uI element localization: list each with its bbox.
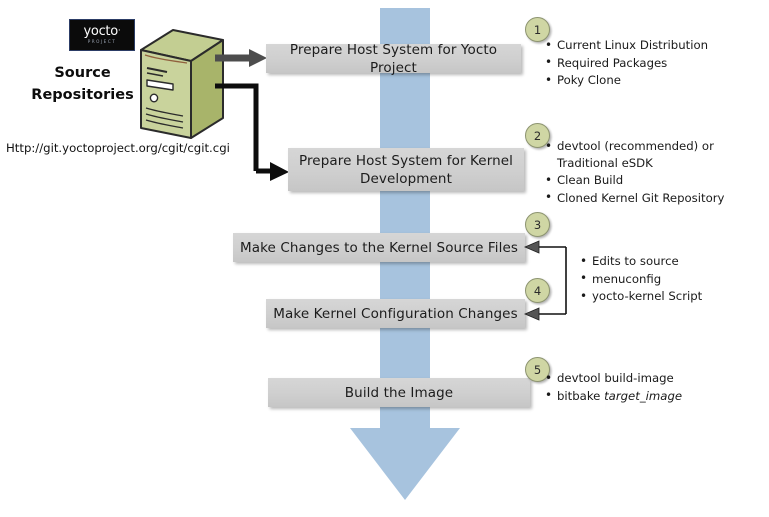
source-repository-url: Http://git.yoctoproject.org/cgit/cgit.cg… (6, 141, 236, 155)
logo-wordmark: yocto· (84, 25, 121, 38)
list-item: Clean Build (545, 172, 763, 189)
step4-label: 4 (534, 284, 541, 298)
box1-label: Prepare Host System for Yocto Project (266, 41, 521, 77)
process-box-prepare-host-kernel[interactable]: Prepare Host System for Kernel Developme… (288, 148, 524, 191)
list-item: bitbake target_image (545, 388, 745, 405)
step2-label: 2 (534, 129, 541, 143)
list-item: devtool build-image (545, 370, 745, 387)
step-number-4: 4 (525, 278, 550, 303)
process-box-prepare-host-yocto[interactable]: Prepare Host System for Yocto Project (266, 44, 521, 73)
process-box-make-kernel-config-changes[interactable]: Make Kernel Configuration Changes (266, 299, 525, 328)
logo-word-text: yocto (84, 24, 118, 39)
process-box-make-kernel-source-changes[interactable]: Make Changes to the Kernel Source Files (233, 233, 525, 262)
box2-label-line2: Development (360, 171, 452, 187)
list-item: devtool (recommended) or Traditional eSD… (545, 138, 763, 171)
box4-label: Make Kernel Configuration Changes (273, 305, 517, 323)
box3-label: Make Changes to the Kernel Source Files (240, 239, 518, 257)
list-item: menuconfig (580, 271, 760, 288)
bitbake-command-prefix: bitbake (557, 389, 604, 403)
list-item: Edits to source (580, 253, 760, 270)
bullets-step-2: devtool (recommended) or Traditional eSD… (545, 138, 763, 207)
logo-subtitle: PROJECT (88, 39, 117, 45)
list-item: Cloned Kernel Git Repository (545, 190, 763, 207)
source-label-line1: Source (20, 62, 145, 84)
bullets-steps-3-4: Edits to source menuconfig yocto-kernel … (580, 253, 760, 306)
process-box-build-image[interactable]: Build the Image (268, 378, 530, 407)
box2-label-line1: Prepare Host System for Kernel (299, 153, 513, 169)
step3-label: 3 (534, 218, 541, 232)
box5-label: Build the Image (345, 384, 453, 402)
bullets-step-1: Current Linux Distribution Required Pack… (545, 37, 760, 90)
source-label-line2: Repositories (20, 84, 145, 106)
yocto-project-logo: yocto· PROJECT (69, 19, 135, 51)
diagram-canvas: yocto· PROJECT Source Repositories Http:… (0, 0, 769, 517)
list-item: yocto-kernel Script (580, 288, 760, 305)
list-item: Required Packages (545, 55, 760, 72)
step5-label: 5 (534, 363, 541, 377)
list-item: Poky Clone (545, 72, 760, 89)
list-item: Current Linux Distribution (545, 37, 760, 54)
step-number-3: 3 (525, 212, 550, 237)
source-repositories-label: Source Repositories (20, 62, 145, 106)
box2-label: Prepare Host System for Kernel Developme… (299, 152, 513, 188)
bullets-step-5: devtool build-image bitbake target_image (545, 370, 745, 405)
bitbake-target-argument: target_image (604, 389, 682, 403)
step1-label: 1 (534, 23, 541, 37)
logo-dot: · (118, 26, 121, 36)
